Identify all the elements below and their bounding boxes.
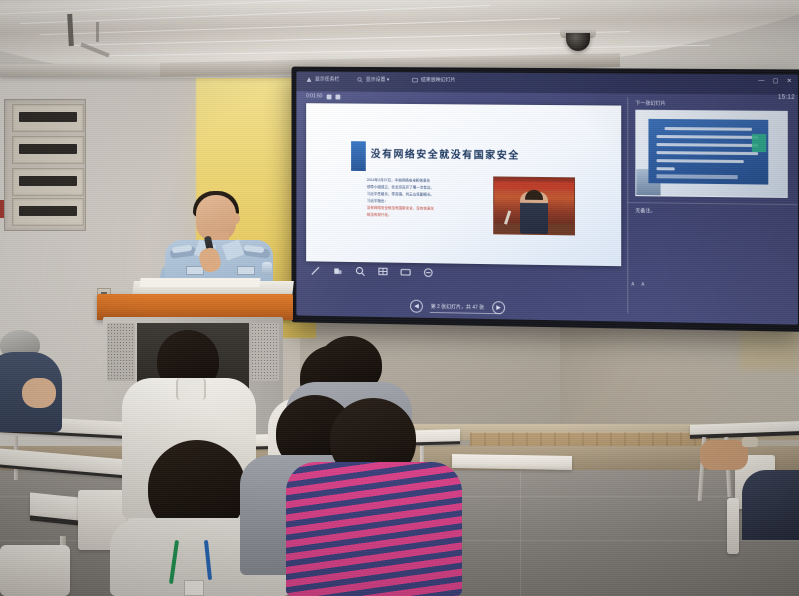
audience-hand <box>22 378 56 408</box>
slide-title: 没有网络安全就没有国家安全 <box>371 145 520 161</box>
ceiling-bracket <box>96 22 99 42</box>
audience-collar <box>176 378 206 400</box>
presenter-shoulder-patch <box>262 262 272 275</box>
wall-marker <box>0 200 4 218</box>
notes-font-controls[interactable]: ᴀ ᴀ <box>631 281 644 287</box>
wall-clock: 15:12 <box>778 95 795 101</box>
presenter-ear <box>232 213 240 224</box>
toolbar-label: 显示设置 ▾ <box>366 76 389 83</box>
more-options-icon[interactable] <box>423 267 434 278</box>
wall-display[interactable]: 显示任务栏 显示设置 ▾ 结束放映幻灯片 — <box>292 67 799 332</box>
slideshow-end-icon <box>412 77 418 83</box>
current-slide[interactable]: 没有网络安全就没有国家安全 2014年2月27日，中央网络安全和信息化 领导小组… <box>306 103 621 266</box>
toolbar-item-taskbar[interactable]: 显示任务栏 <box>306 76 339 83</box>
pen-icon[interactable] <box>310 265 321 276</box>
chair-leg <box>727 498 739 554</box>
slide-counter: 第 2 张幻灯片，共 47 张 <box>431 303 484 311</box>
photo-scene: 显示任务栏 显示设置 ▾ 结束放映幻灯片 — <box>0 0 799 596</box>
magnifier-icon <box>357 76 363 82</box>
pause-icon[interactable] <box>326 94 331 99</box>
black-screen-icon[interactable] <box>400 267 411 278</box>
toolbar-item-settings[interactable]: 显示设置 ▾ <box>357 76 389 83</box>
toolbar-item-end-show[interactable]: 结束放映幻灯片 <box>412 76 455 83</box>
slide-body-line-highlight: 就没有现代化。 <box>367 212 478 220</box>
badge-card <box>184 580 204 596</box>
audience-torso-striped <box>286 462 462 596</box>
notes-divider <box>627 202 798 205</box>
previous-slide-button[interactable]: ◀ <box>410 300 423 313</box>
next-slide-label: 下一张幻灯片 <box>635 100 665 107</box>
elapsed-timer: 0:01:50 <box>306 93 322 99</box>
next-slide-content <box>648 119 768 185</box>
presenter-badge <box>237 266 255 275</box>
close-icon[interactable]: ✕ <box>787 78 792 84</box>
slide-accent-block <box>351 141 366 171</box>
chair <box>0 545 70 596</box>
magnifier-icon[interactable] <box>355 266 366 277</box>
next-slide-thumbnail[interactable] <box>635 110 787 198</box>
maximize-icon[interactable]: ▢ <box>773 78 779 84</box>
audience-arm <box>700 440 748 470</box>
timer-group: 0:01:50 <box>306 93 340 99</box>
reset-icon[interactable] <box>335 94 340 99</box>
table <box>452 454 572 470</box>
speaker-notes: 无备注。 <box>635 207 655 214</box>
audience-torso <box>742 470 799 540</box>
window-controls[interactable]: — ▢ ✕ <box>758 78 791 84</box>
all-slides-icon[interactable] <box>378 266 389 277</box>
slide-counter-underline <box>430 312 501 314</box>
increase-font-icon[interactable]: ᴀ <box>641 282 644 288</box>
pointer-options-icon <box>306 76 312 82</box>
podium-speaker-grille <box>107 323 135 381</box>
podium-speaker-grille <box>251 323 279 381</box>
slide-photo <box>493 176 575 235</box>
presenter-view-screen[interactable]: 显示任务栏 显示设置 ▾ 结束放映幻灯片 — <box>296 72 798 325</box>
highlighter-icon[interactable] <box>333 266 344 277</box>
minimize-icon[interactable]: — <box>758 78 764 84</box>
toolbar-label: 结束放映幻灯片 <box>421 76 456 83</box>
toolbar-label: 显示任务栏 <box>315 76 339 83</box>
podium-papers <box>139 278 260 287</box>
display-bezel: 显示任务栏 显示设置 ▾ 结束放映幻灯片 — <box>296 72 798 325</box>
wall-vent-panel <box>4 99 86 231</box>
pane-divider <box>627 98 628 314</box>
decrease-font-icon[interactable]: ᴀ <box>631 281 634 287</box>
wristwatch <box>742 437 758 447</box>
slide-body: 2014年2月27日，中央网络安全和信息化 领导小组成立，在北京召开了第一次会议… <box>367 177 478 220</box>
ink-toolbar[interactable] <box>310 265 434 278</box>
